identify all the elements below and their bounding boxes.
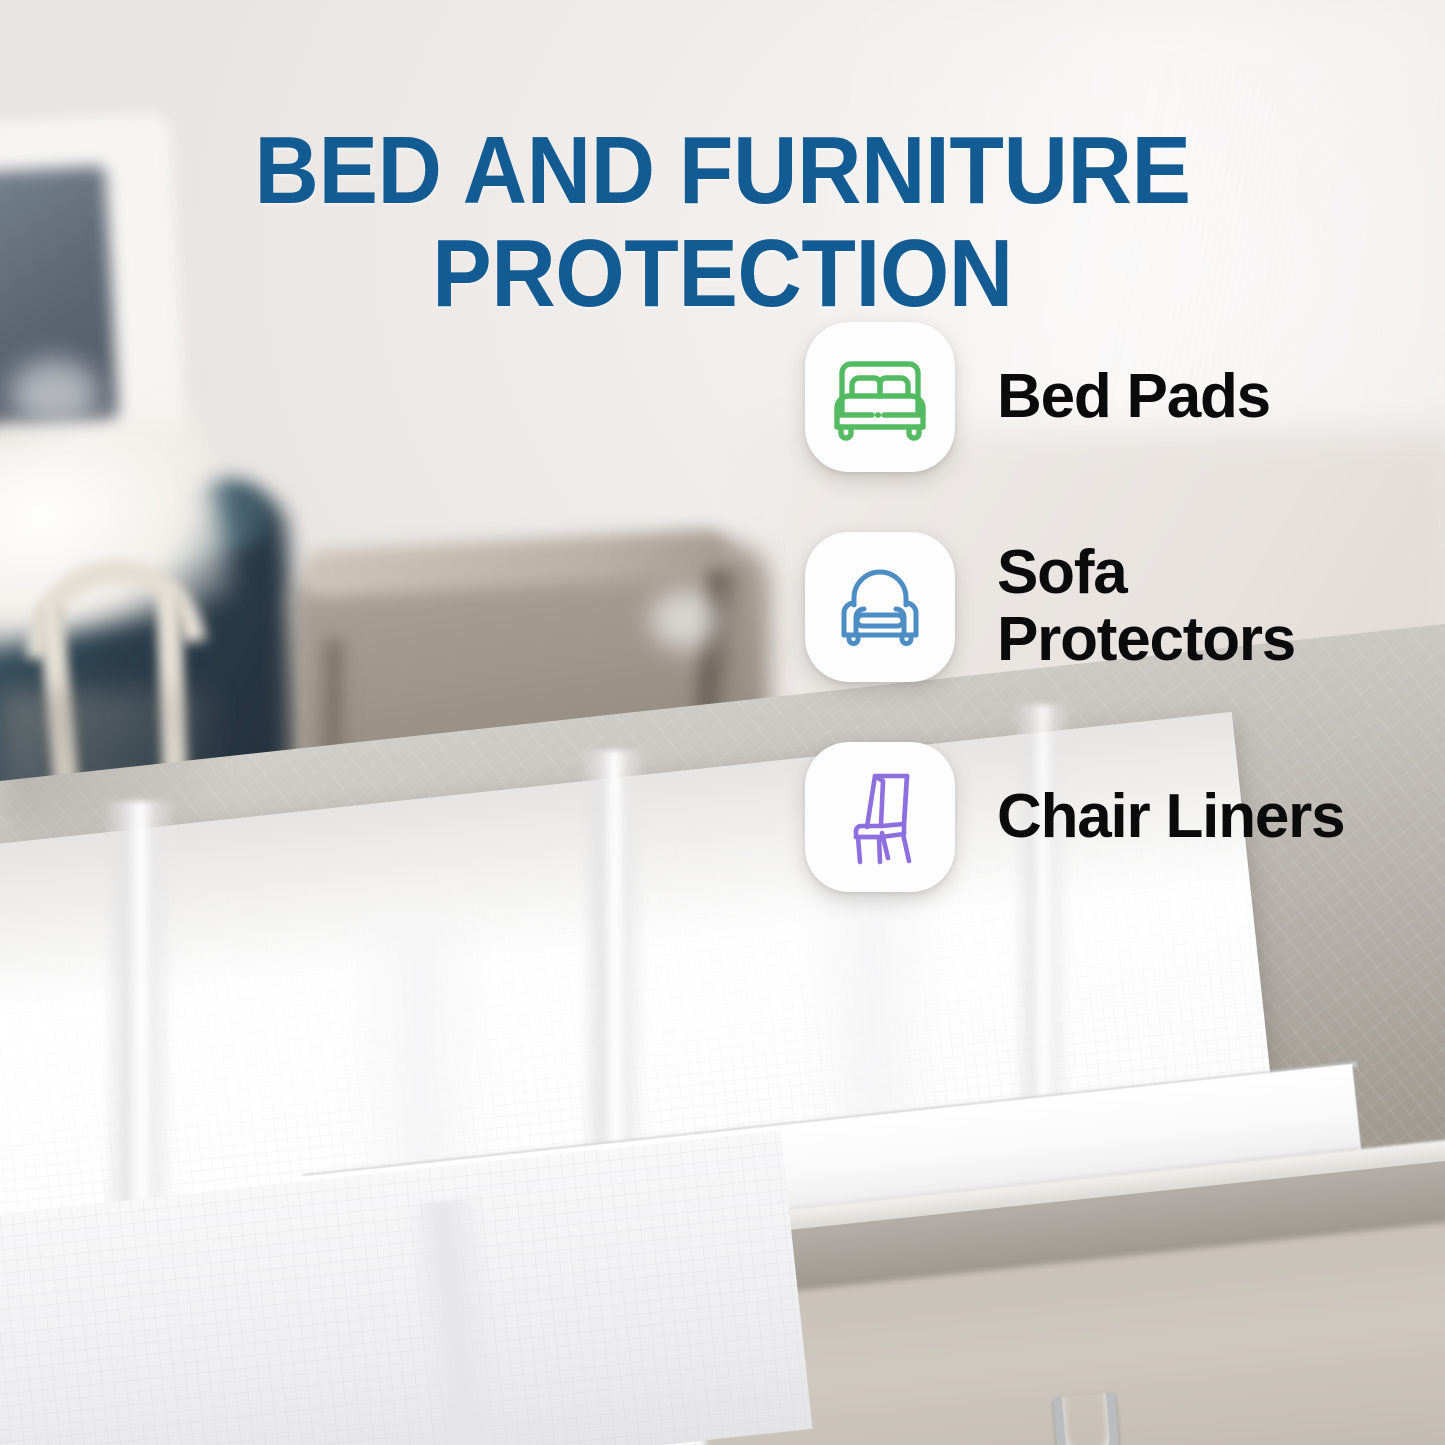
chrome-hook-icon xyxy=(1053,1392,1121,1445)
chair-liners-badge[interactable] xyxy=(805,742,955,892)
armchair-icon xyxy=(830,557,930,657)
bed-pads-badge[interactable] xyxy=(805,322,955,472)
feature-item-bed-pads[interactable]: Bed Pads xyxy=(805,322,1425,472)
feature-label-sofa-protectors: Sofa Protectors xyxy=(997,540,1295,674)
feature-item-sofa-protectors[interactable]: Sofa Protectors xyxy=(805,532,1425,682)
bed-frame-highlight xyxy=(650,590,720,650)
feature-item-chair-liners[interactable]: Chair Liners xyxy=(805,742,1425,892)
monitor-glare xyxy=(10,360,100,430)
page-title: BED AND FURNITURE PROTECTION xyxy=(51,120,1395,325)
feature-list: Bed Pads xyxy=(805,322,1425,952)
feature-label-bed-pads: Bed Pads xyxy=(997,364,1270,431)
dining-chair-icon xyxy=(834,767,926,867)
bed-icon xyxy=(828,345,932,449)
feature-label-chair-liners: Chair Liners xyxy=(997,784,1344,851)
sofa-protectors-badge[interactable] xyxy=(805,532,955,682)
product-feature-graphic: BED AND FURNITURE PROTECTION xyxy=(0,0,1445,1445)
